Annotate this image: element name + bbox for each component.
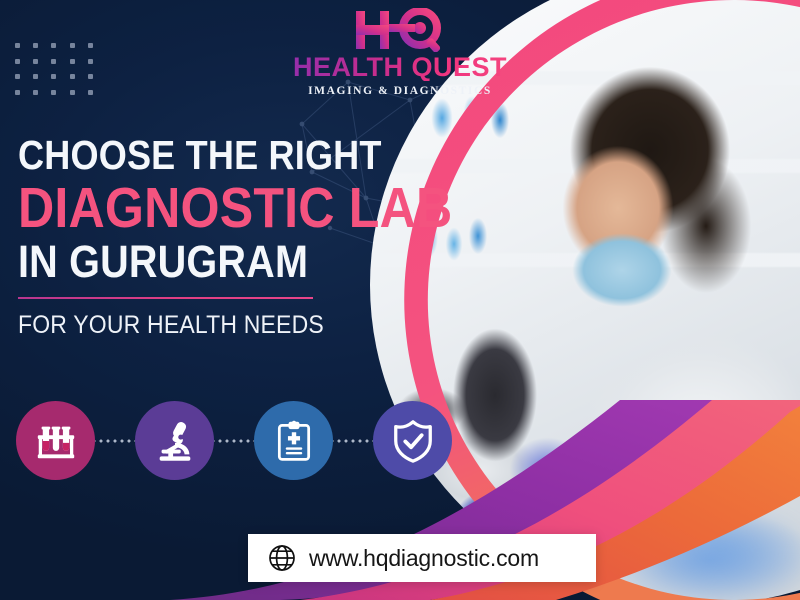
headline-block: CHOOSE THE RIGHT DIAGNOSTIC LAB IN GURUG… bbox=[18, 136, 448, 340]
test-tubes-icon bbox=[33, 418, 79, 464]
feature-item-microscope[interactable] bbox=[135, 401, 214, 480]
headline-divider bbox=[18, 297, 313, 299]
medical-report-icon bbox=[272, 419, 316, 463]
website-url-text: www.hqdiagnostic.com bbox=[309, 545, 539, 572]
feature-item-test-tubes[interactable] bbox=[16, 401, 95, 480]
brand-name: HEALTH QUEST bbox=[278, 54, 522, 81]
headline-subline: FOR YOUR HEALTH NEEDS bbox=[18, 311, 414, 340]
website-url-bar[interactable]: www.hqdiagnostic.com bbox=[248, 534, 596, 582]
brand-logo: HEALTH QUEST IMAGING & DIAGNOSTICS bbox=[278, 8, 522, 97]
dot-grid-decoration bbox=[8, 38, 100, 100]
connector-dots-3 bbox=[333, 439, 373, 443]
headline-line-3: IN GURUGRAM bbox=[18, 240, 396, 284]
feature-icon-row bbox=[16, 401, 452, 480]
headline-line-2: DIAGNOSTIC LAB bbox=[18, 181, 396, 236]
headline-line-1: CHOOSE THE RIGHT bbox=[18, 136, 396, 176]
feature-item-shield-check[interactable] bbox=[373, 401, 452, 480]
shield-check-icon bbox=[390, 418, 436, 464]
marketing-banner: HEALTH QUEST IMAGING & DIAGNOSTICS CHOOS… bbox=[0, 0, 800, 600]
hq-monogram-magnifier-icon bbox=[346, 8, 454, 52]
globe-icon bbox=[268, 544, 296, 572]
connector-dots-1 bbox=[95, 439, 135, 443]
feature-item-medical-report[interactable] bbox=[254, 401, 333, 480]
connector-dots-2 bbox=[214, 439, 254, 443]
microscope-icon bbox=[152, 418, 198, 464]
brand-tagline: IMAGING & DIAGNOSTICS bbox=[278, 85, 522, 97]
